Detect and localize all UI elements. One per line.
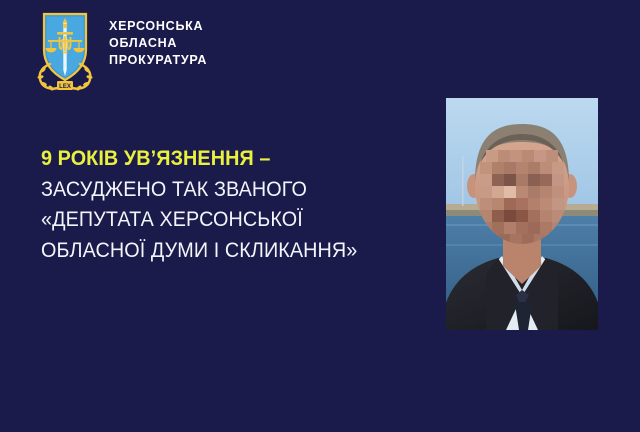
headline: 9 РОКІВ УВ’ЯЗНЕННЯ – ЗАСУДЖЕНО ТАК ЗВАНО… — [41, 143, 401, 265]
prosecutors-office-emblem: LEX — [34, 10, 96, 92]
headline-line-2: ЗАСУДЖЕНО ТАК ЗВАНОГО — [41, 174, 372, 205]
organization-line-1: ХЕРСОНСЬКА — [109, 18, 207, 35]
news-banner: LEX ХЕРСОНСЬКА ОБЛАСНА ПРОКУРАТУРА 9 РОК… — [0, 0, 640, 432]
subject-photo — [446, 98, 598, 330]
headline-line-1: 9 РОКІВ УВ’ЯЗНЕННЯ – — [41, 143, 372, 174]
organization-line-3: ПРОКУРАТУРА — [109, 52, 207, 69]
emblem-lex-banner-text: LEX — [59, 84, 71, 90]
organization-line-2: ОБЛАСНА — [109, 35, 207, 52]
organization-name: ХЕРСОНСЬКА ОБЛАСНА ПРОКУРАТУРА — [109, 18, 207, 85]
brand-header: LEX ХЕРСОНСЬКА ОБЛАСНА ПРОКУРАТУРА — [34, 10, 207, 92]
headline-line-4: ОБЛАСНОЇ ДУМИ І СКЛИКАННЯ» — [41, 235, 372, 266]
headline-line-3: «ДЕПУТАТА ХЕРСОНСЬКОЇ — [41, 204, 372, 235]
